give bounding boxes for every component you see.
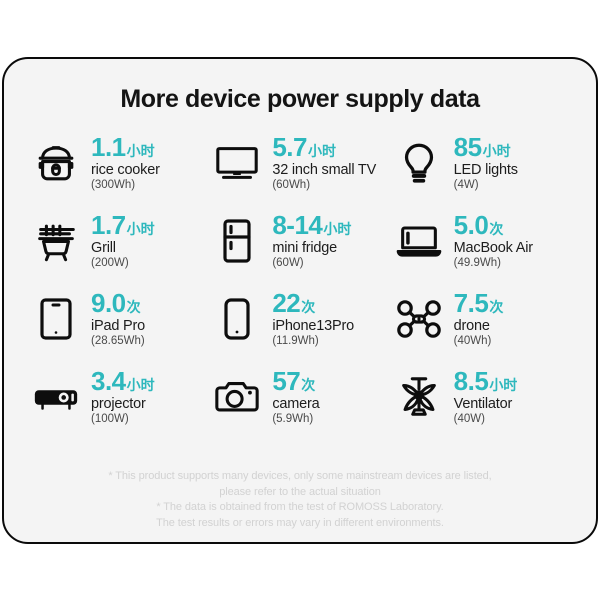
- footnote-line: The test results or errors may vary in d…: [4, 516, 596, 532]
- device-unit: 次: [489, 222, 503, 236]
- device-info: 5.0 次 MacBook Air (49.9Wh): [454, 210, 533, 270]
- device-item-led-lights: 85 小时 LED lights (4W): [393, 132, 570, 210]
- device-value-line: 1.7 小时: [91, 212, 155, 238]
- device-value-line: 57 次: [272, 368, 319, 394]
- device-value-line: 8.5 小时: [454, 368, 518, 394]
- device-info: 57 次 camera (5.9Wh): [272, 366, 319, 426]
- device-name: mini fridge: [272, 241, 351, 256]
- device-item-ipad-pro: 9.0 次 iPad Pro (28.65Wh): [30, 288, 207, 366]
- device-unit: 小时: [323, 222, 351, 236]
- footnote-line: * The data is obtained from the test of …: [4, 500, 596, 516]
- device-value: 8-14: [272, 212, 322, 238]
- device-power: (200W): [91, 258, 155, 270]
- device-power: (40W): [454, 414, 518, 426]
- device-unit: 次: [489, 300, 503, 314]
- device-value-line: 1.1 小时: [91, 134, 160, 160]
- device-unit: 次: [301, 300, 315, 314]
- device-value: 7.5: [454, 290, 489, 316]
- device-value-line: 5.0 次: [454, 212, 533, 238]
- device-item-mini-fridge: 8-14 小时 mini fridge (60W): [211, 210, 388, 288]
- device-unit: 小时: [489, 378, 517, 392]
- device-value-line: 5.7 小时: [272, 134, 376, 160]
- device-grid: 1.1 小时 rice cooker (300Wh): [4, 132, 596, 444]
- device-power: (5.9Wh): [272, 414, 319, 426]
- device-power: (60W): [272, 258, 351, 270]
- device-item-tv: 5.7 小时 32 inch small TV (60Wh): [211, 132, 388, 210]
- device-info: 5.7 小时 32 inch small TV (60Wh): [272, 132, 376, 192]
- device-unit: 小时: [308, 144, 336, 158]
- light-bulb-icon: [393, 132, 445, 192]
- device-item-ventilator: 8.5 小时 Ventilator (40W): [393, 366, 570, 444]
- device-info: 22 次 iPhone13Pro (11.9Wh): [272, 288, 354, 348]
- projector-icon: [30, 366, 82, 426]
- device-name: Grill: [91, 241, 155, 256]
- device-value: 9.0: [91, 290, 126, 316]
- device-info: 7.5 次 drone (40Wh): [454, 288, 504, 348]
- device-power: (100W): [91, 414, 155, 426]
- device-unit: 次: [301, 378, 315, 392]
- device-power: (300Wh): [91, 180, 160, 192]
- device-value: 3.4: [91, 368, 126, 394]
- device-name: Ventilator: [454, 397, 518, 412]
- camera-icon: [211, 366, 263, 426]
- device-info: 3.4 小时 projector (100W): [91, 366, 155, 426]
- television-icon: [211, 132, 263, 192]
- device-name: rice cooker: [91, 163, 160, 178]
- device-unit: 小时: [483, 144, 511, 158]
- device-item-drone: 7.5 次 drone (40Wh): [393, 288, 570, 366]
- device-power-card: More device power supply data: [2, 57, 598, 544]
- device-value: 5.0: [454, 212, 489, 238]
- device-power: (60Wh): [272, 180, 376, 192]
- page-root: More device power supply data: [0, 0, 600, 600]
- device-unit: 小时: [127, 378, 155, 392]
- device-item-projector: 3.4 小时 projector (100W): [30, 366, 207, 444]
- device-power: (4W): [454, 180, 518, 192]
- device-name: iPad Pro: [91, 319, 145, 334]
- device-value: 5.7: [272, 134, 307, 160]
- grill-icon: [30, 210, 82, 270]
- device-value: 1.1: [91, 134, 126, 160]
- device-item-camera: 57 次 camera (5.9Wh): [211, 366, 388, 444]
- device-value-line: 85 小时: [454, 134, 518, 160]
- device-unit: 小时: [127, 144, 155, 158]
- device-power: (11.9Wh): [272, 336, 354, 348]
- device-info: 8.5 小时 Ventilator (40W): [454, 366, 518, 426]
- footnote-line: * This product supports many devices, on…: [4, 469, 596, 485]
- device-name: LED lights: [454, 163, 518, 178]
- device-value-line: 3.4 小时: [91, 368, 155, 394]
- device-value-line: 9.0 次: [91, 290, 145, 316]
- drone-icon: [393, 288, 445, 348]
- device-value: 85: [454, 134, 482, 160]
- device-value-line: 7.5 次: [454, 290, 504, 316]
- device-power: (28.65Wh): [91, 336, 145, 348]
- device-item-iphone13pro: 22 次 iPhone13Pro (11.9Wh): [211, 288, 388, 366]
- footnote-line: please refer to the actual situation: [4, 485, 596, 501]
- device-info: 1.7 小时 Grill (200W): [91, 210, 155, 270]
- device-name: camera: [272, 397, 319, 412]
- footnotes: * This product supports many devices, on…: [4, 469, 596, 531]
- page-title: More device power supply data: [4, 85, 596, 114]
- device-item-grill: 1.7 小时 Grill (200W): [30, 210, 207, 288]
- device-value-line: 8-14 小时: [272, 212, 351, 238]
- device-value: 57: [272, 368, 300, 394]
- device-unit: 次: [127, 300, 141, 314]
- device-info: 9.0 次 iPad Pro (28.65Wh): [91, 288, 145, 348]
- device-info: 1.1 小时 rice cooker (300Wh): [91, 132, 160, 192]
- device-info: 85 小时 LED lights (4W): [454, 132, 518, 192]
- device-name: projector: [91, 397, 155, 412]
- device-name: 32 inch small TV: [272, 163, 376, 178]
- fan-icon: [393, 366, 445, 426]
- device-value: 8.5: [454, 368, 489, 394]
- device-unit: 小时: [127, 222, 155, 236]
- mini-fridge-icon: [211, 210, 263, 270]
- device-power: (49.9Wh): [454, 258, 533, 270]
- laptop-icon: [393, 210, 445, 270]
- device-value-line: 22 次: [272, 290, 354, 316]
- device-name: MacBook Air: [454, 241, 533, 256]
- device-value: 1.7: [91, 212, 126, 238]
- device-info: 8-14 小时 mini fridge (60W): [272, 210, 351, 270]
- device-item-rice-cooker: 1.1 小时 rice cooker (300Wh): [30, 132, 207, 210]
- device-name: drone: [454, 319, 504, 334]
- rice-cooker-icon: [30, 132, 82, 192]
- device-item-macbook-air: 5.0 次 MacBook Air (49.9Wh): [393, 210, 570, 288]
- device-name: iPhone13Pro: [272, 319, 354, 334]
- device-value: 22: [272, 290, 300, 316]
- tablet-icon: [30, 288, 82, 348]
- smartphone-icon: [211, 288, 263, 348]
- device-power: (40Wh): [454, 336, 504, 348]
